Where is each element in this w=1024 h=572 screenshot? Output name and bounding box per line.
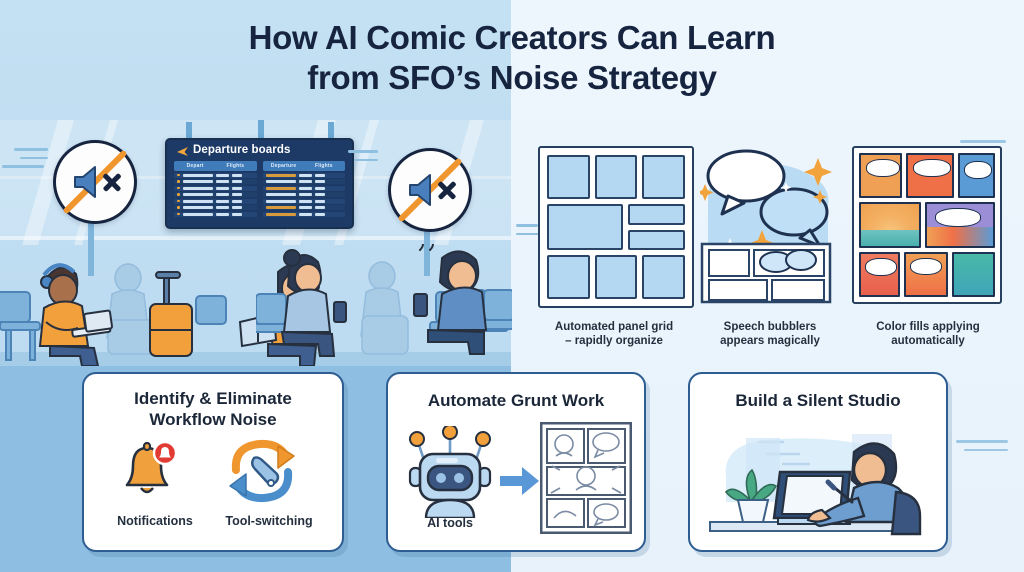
infographic-canvas: How AI Comic Creators Can Learn from SFO… xyxy=(0,0,1024,572)
motion-lines xyxy=(956,440,1016,457)
motion-lines xyxy=(2,148,48,174)
caption-line-2: automatically xyxy=(850,334,1006,348)
board-row xyxy=(174,192,257,197)
board-col-departure: Departure xyxy=(266,163,302,169)
comic-cell xyxy=(952,252,995,297)
muted-speaker-icon xyxy=(388,148,472,232)
card-automate-grunt-work[interactable]: Automate Grunt Work AI tools xyxy=(386,372,646,552)
board-row xyxy=(174,212,257,217)
board-row xyxy=(263,179,346,184)
comic-cell xyxy=(906,153,953,198)
card-3-title: Build a Silent Studio xyxy=(690,374,946,411)
caption-line-1: Color fills applying xyxy=(850,320,1006,334)
board-column-header: Departure Flights xyxy=(263,161,346,171)
caption-speech-bubbles: Speech bubblers appears magically xyxy=(700,320,840,348)
comic-cell xyxy=(859,153,902,198)
caption-line-1: Automated panel grid xyxy=(524,320,704,334)
card-1-title: Identify & Eliminate Workflow Noise xyxy=(84,374,342,430)
board-row xyxy=(263,192,346,197)
board-row xyxy=(263,205,346,210)
caption-line-1: Speech bubblers xyxy=(700,320,840,334)
close-x-icon xyxy=(436,179,458,201)
color-comic-grid-icon xyxy=(852,146,1002,304)
speech-bubbles-icon xyxy=(700,142,835,304)
card-2-item-1-label: AI tools xyxy=(402,516,498,530)
board-row xyxy=(174,199,257,204)
comic-page-under-bubbles xyxy=(702,244,830,302)
board-column: Departure Flights xyxy=(263,161,346,222)
board-column: Depart Flights xyxy=(174,161,257,222)
comic-cell xyxy=(904,252,947,297)
caption-line-2: appears magically xyxy=(700,334,840,348)
board-col-flights-2: Flights xyxy=(306,163,342,169)
board-row xyxy=(263,199,346,204)
board-col-depart: Depart xyxy=(177,163,213,169)
tool-switching-icon xyxy=(226,436,298,506)
bell-notification-icon xyxy=(116,440,178,502)
board-row xyxy=(263,186,346,191)
caption-panel-grid: Automated panel grid – rapidly organize xyxy=(524,320,704,348)
comic-cell xyxy=(859,252,900,297)
traveler-phone-man xyxy=(414,244,486,354)
caption-color-fills: Color fills applying automatically xyxy=(850,320,1006,348)
comic-cell xyxy=(925,202,995,247)
board-columns: Depart Flights Departure Flights xyxy=(174,161,345,222)
arrow-right-icon xyxy=(500,466,540,496)
board-row xyxy=(174,186,257,191)
card-1-title-line-1: Identify & Eliminate xyxy=(134,389,292,408)
board-row xyxy=(174,205,257,210)
traveler-phone-woman xyxy=(282,250,346,356)
automated-panel-grid-icon xyxy=(538,146,694,308)
close-x-icon xyxy=(101,171,123,193)
caption-line-2: – rapidly organize xyxy=(524,334,704,348)
board-row xyxy=(263,212,346,217)
board-column-header: Depart Flights xyxy=(174,161,257,171)
airport-travelers-scene-2 xyxy=(256,244,512,368)
airplane-icon xyxy=(176,146,189,157)
window-mullion xyxy=(0,236,511,240)
comic-page-icon xyxy=(540,422,632,534)
board-row xyxy=(263,173,346,178)
board-row xyxy=(174,173,257,178)
card-1-title-line-2: Workflow Noise xyxy=(149,410,276,429)
card-build-silent-studio[interactable]: Build a Silent Studio xyxy=(688,372,948,552)
comic-cell xyxy=(958,153,995,198)
muted-speaker-icon xyxy=(53,140,137,224)
background-traveler xyxy=(107,264,154,354)
motion-lines xyxy=(338,150,378,167)
title-line-1: How AI Comic Creators Can Learn xyxy=(0,18,1024,58)
luggage-icon xyxy=(150,272,192,356)
board-heading: Departure boards xyxy=(193,144,290,156)
robot-icon xyxy=(404,426,496,518)
card-identify-eliminate[interactable]: Identify & Eliminate Workflow Noise Noti… xyxy=(82,372,344,552)
traveler-phone-seated xyxy=(56,258,81,287)
title-line-2: from SFO’s Noise Strategy xyxy=(0,58,1024,98)
departure-board: Departure boards Depart Flights Departur… xyxy=(165,138,354,229)
comic-cell-sunburst xyxy=(859,202,921,247)
board-col-flights: Flights xyxy=(217,163,253,169)
card-2-title: Automate Grunt Work xyxy=(388,374,644,411)
card-1-item-2-label: Tool-switching xyxy=(204,514,334,528)
artist-at-tablet-icon xyxy=(704,418,932,540)
card-1-item-1-label: Notifications xyxy=(100,514,210,528)
board-row xyxy=(174,179,257,184)
page-title: How AI Comic Creators Can Learn from SFO… xyxy=(0,18,1024,98)
